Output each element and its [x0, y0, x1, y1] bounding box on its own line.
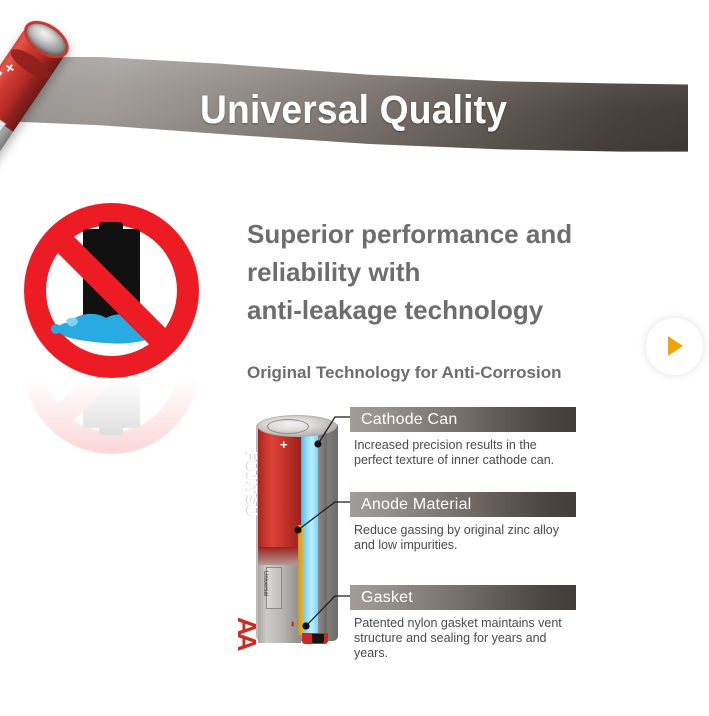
next-slide-button[interactable]: [646, 318, 703, 375]
cutaway-separator-layer: [298, 525, 304, 635]
hero-headline-line-1: Superior performance and: [247, 215, 647, 253]
callout-anode-material: Anode Material Reduce gassing by origina…: [350, 492, 576, 553]
cutaway-battery-size: AA: [231, 617, 262, 649]
cutaway-top-cut-edge: [267, 419, 309, 434]
callout-gasket-body: Patented nylon gasket maintains vent str…: [350, 616, 576, 661]
cutaway-battery-image: + FUJITSU Universal AA -: [256, 415, 338, 647]
cutaway-gasket-part: [312, 634, 324, 643]
prohibition-slash-reflection: [43, 374, 181, 435]
callout-cathode-can-title: Cathode Can: [350, 407, 576, 432]
page-root: Universal Quality + FUJITSU Universal Po…: [0, 0, 709, 716]
callout-gasket-title: Gasket: [350, 585, 576, 610]
no-leak-sign-icon: [24, 203, 202, 381]
no-leak-sign-reflection: [24, 374, 202, 454]
play-triangle-icon: [668, 336, 683, 356]
banner-battery-lower: [0, 105, 13, 165]
hero-headline: Superior performance and reliability wit…: [247, 215, 647, 329]
prohibition-slash-icon: [43, 222, 181, 360]
banner-title: Universal Quality: [200, 88, 591, 133]
banner-battery-plus-icon: +: [2, 61, 20, 79]
callout-gasket: Gasket Patented nylon gasket maintains v…: [350, 585, 576, 661]
cutaway-cathode-can-wall: [318, 425, 327, 637]
cutaway-top-cap: [257, 415, 337, 437]
callout-anode-material-body: Reduce gassing by original zinc alloy an…: [350, 523, 576, 553]
callout-anode-material-title: Anode Material: [350, 492, 576, 517]
cutaway-minus-icon: -: [283, 621, 304, 627]
hero-headline-line-3: anti-leakage technology: [247, 291, 647, 329]
callout-cathode-can-body: Increased precision results in the perfe…: [350, 438, 576, 468]
cutaway-plus-icon: +: [280, 437, 288, 452]
cutaway-battery-label: Universal: [266, 567, 282, 609]
top-banner: Universal Quality + FUJITSU Universal Po…: [0, 0, 709, 200]
cutaway-anode-material: [302, 429, 318, 635]
hero-subheading: Original Technology for Anti-Corrosion: [247, 363, 647, 383]
battery-cutaway-diagram: + FUJITSU Universal AA - Cathode Can Inc…: [240, 400, 640, 680]
hero-headline-line-2: reliability with: [247, 253, 647, 291]
cutaway-battery-brand: FUJITSU: [243, 451, 260, 516]
cutaway-label-line1: Universal: [261, 569, 268, 596]
callout-cathode-can: Cathode Can Increased precision results …: [350, 407, 576, 468]
